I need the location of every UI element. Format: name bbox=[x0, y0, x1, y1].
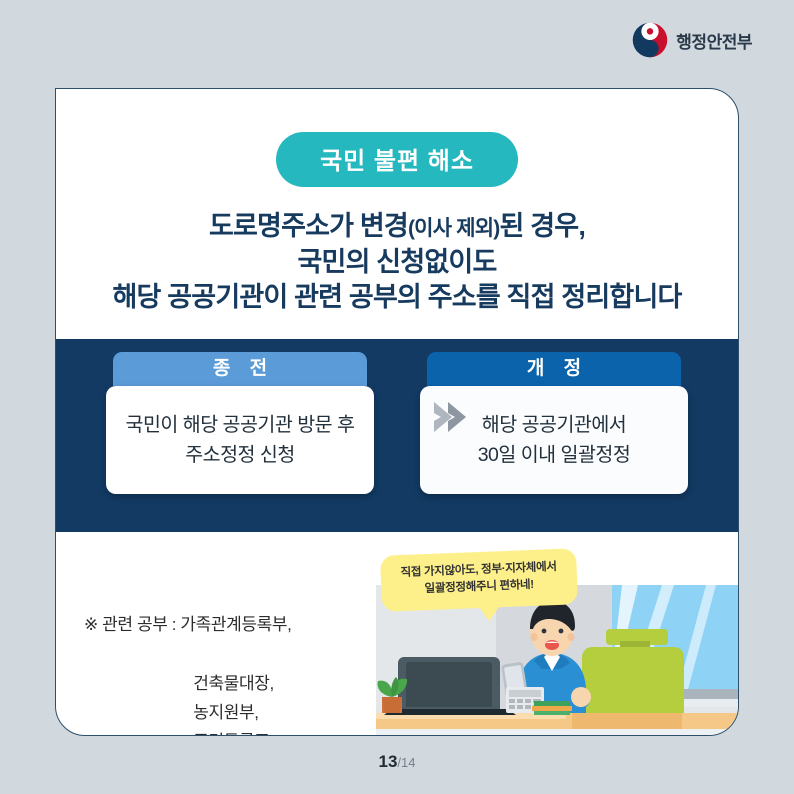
column-header-after: 개 정 bbox=[427, 352, 681, 386]
ministry-name: 행정안전부 bbox=[676, 28, 752, 53]
after-text-line-1: 해당 공공기관에서 bbox=[482, 410, 626, 440]
speech-bubble: 직접 가지않아도, 정부·지자체에서 일괄정정해주니 편하네! bbox=[381, 552, 577, 608]
page-title: 도로명주소가 변경(이사 제외)된 경우, 국민의 신청없이도 해당 공공기관이… bbox=[56, 209, 738, 316]
government-header: 행정안전부 bbox=[632, 22, 752, 58]
speech-bubble-body: 직접 가지않아도, 정부·지자체에서 일괄정정해주니 편하네! bbox=[380, 548, 578, 611]
footnote-lead: ※ 관련 공부 : 가족관계등록부, bbox=[84, 610, 304, 639]
headline-line-3: 해당 공공기관이 관련 공부의 주소를 직접 정리합니다 bbox=[56, 280, 738, 316]
page-current: 13 bbox=[379, 752, 398, 771]
footnote-item-4: 주민등록표, bbox=[101, 727, 274, 736]
headline-line-1: 도로명주소가 변경(이사 제외)된 경우, bbox=[56, 209, 738, 245]
before-text-line-2: 주소정정 신청 bbox=[185, 440, 295, 470]
footnote-item-2: 건축물대장, bbox=[101, 669, 274, 698]
double-chevron-right-icon bbox=[430, 394, 476, 440]
status-badge: 국민 불편 해소 bbox=[276, 132, 518, 187]
info-card: 국민 불편 해소 도로명주소가 변경(이사 제외)된 경우, 국민의 신청없이도… bbox=[55, 88, 739, 736]
comparison-section: 종 전 국민이 해당 공공기관 방문 후 주소정정 신청 개 정 해당 공공기관… bbox=[56, 339, 738, 539]
page-total: /14 bbox=[397, 755, 415, 770]
after-text-line-2: 30일 이내 일괄정정 bbox=[478, 440, 631, 470]
taegeuk-icon bbox=[632, 22, 668, 58]
speech-bubble-tail bbox=[477, 604, 501, 621]
page-indicator: 13/14 bbox=[0, 752, 794, 772]
column-body-before: 국민이 해당 공공기관 방문 후 주소정정 신청 bbox=[106, 386, 374, 494]
headline-line-1-a: 도로명주소가 변경 bbox=[209, 211, 408, 241]
headline-line-1-b: 된 경우, bbox=[500, 211, 586, 241]
column-header-before: 종 전 bbox=[113, 352, 367, 386]
headline-line-2: 국민의 신청없이도 bbox=[56, 245, 738, 281]
footnote-item-3: 농지원부, bbox=[101, 698, 258, 727]
footnote-list: ※ 관련 공부 : 가족관계등록부, 건축물대장, 농지원부, 주민등록표, 외… bbox=[84, 552, 304, 736]
comparison-column-before: 종 전 국민이 해당 공공기관 방문 후 주소정정 신청 bbox=[106, 352, 374, 494]
before-text-line-1: 국민이 해당 공공기관 방문 후 bbox=[126, 410, 355, 440]
badge-row: 국민 불편 해소 bbox=[56, 89, 738, 187]
headline-line-1-paren: (이사 제외) bbox=[408, 217, 500, 240]
